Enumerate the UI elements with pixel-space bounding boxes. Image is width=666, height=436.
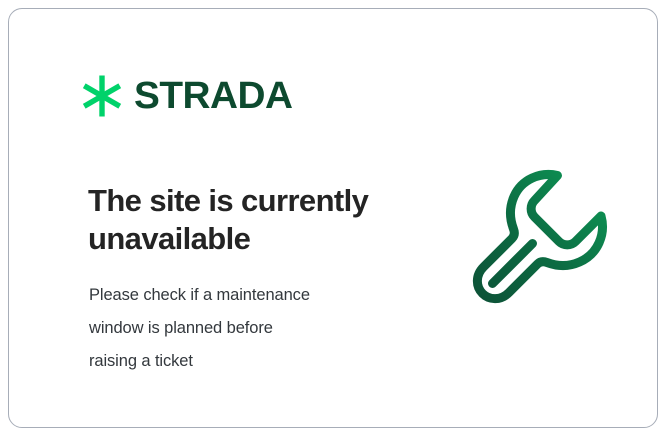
error-page: STRADA The site is currently unavailable…: [0, 0, 666, 436]
description-line: window is planned before: [89, 312, 409, 345]
wrench-icon: [461, 155, 626, 320]
brand-logo: STRADA: [81, 75, 289, 117]
status-card: STRADA The site is currently unavailable…: [8, 8, 658, 428]
brand-wordmark: STRADA: [134, 77, 292, 115]
page-title: The site is currently unavailable: [88, 182, 448, 259]
page-description: Please check if a maintenance window is …: [89, 279, 409, 378]
asterisk-star-icon: [81, 75, 123, 117]
description-line: raising a ticket: [89, 345, 409, 378]
description-line: Please check if a maintenance: [89, 279, 409, 312]
